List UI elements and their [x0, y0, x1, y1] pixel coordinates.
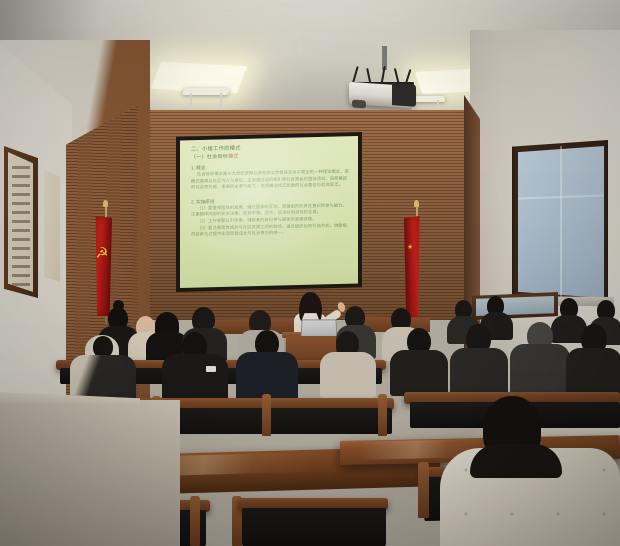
screen-projection-glow — [180, 136, 358, 288]
blind-seam — [560, 146, 562, 298]
student-beige-coat-body — [320, 352, 376, 398]
student-black-puffer-logo — [206, 366, 216, 372]
projector-lens — [352, 100, 366, 109]
five-star-icon: ★ — [407, 245, 413, 251]
bench-middle-post — [378, 394, 387, 436]
student-black-puffer-body — [162, 354, 228, 404]
student-cap-body — [510, 344, 570, 394]
calligraphy-characters — [12, 160, 30, 286]
bench-middle-post — [262, 394, 271, 436]
chair-post — [190, 496, 200, 546]
classroom-scene: 二、小组工作的模式 （一）社会目标模式 1. 概念 社会目标模式是十九世纪末期以… — [0, 0, 620, 546]
student-dark-mid-body — [390, 350, 448, 396]
framed-calligraphy-scroll — [8, 152, 33, 292]
framed-calligraphy-second — [44, 170, 60, 282]
floor — [0, 400, 180, 546]
chair-foreground-center-pad — [242, 508, 386, 546]
student-right-edge-body — [566, 348, 620, 398]
party-flag-finial — [103, 200, 108, 207]
projection-screen: 二、小组工作的模式 （一）社会目标模式 1. 概念 社会目标模式是十九世纪末期以… — [180, 136, 358, 288]
student-navy-jacket-body — [236, 352, 298, 400]
hammer-and-sickle-icon: ☭ — [94, 244, 109, 265]
student-ponytail-body — [450, 348, 508, 396]
hoodie-hood-fold — [470, 444, 562, 478]
chair-post — [418, 462, 429, 518]
student-bun-hair-bun — [113, 300, 124, 311]
national-flag-finial — [414, 200, 419, 207]
projector-rear-panel — [392, 83, 416, 107]
